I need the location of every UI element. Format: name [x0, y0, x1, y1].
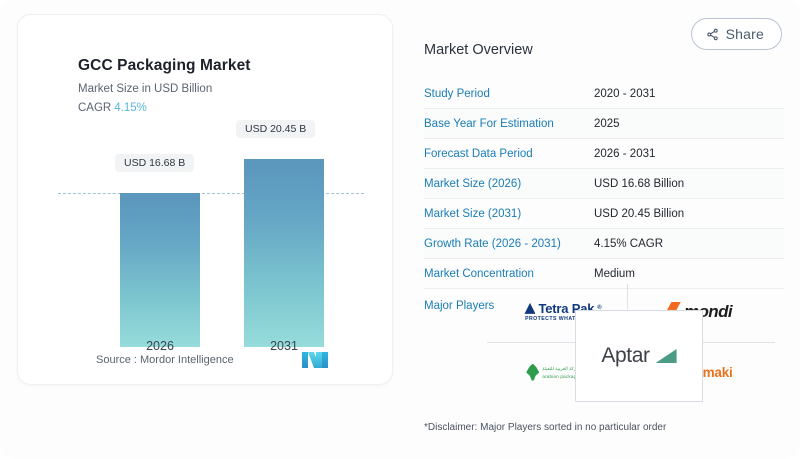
disclaimer-text: *Disclaimer: Major Players sorted in no … [424, 422, 666, 433]
aptar-name: Aptar [601, 344, 649, 368]
table-row: Market Size (2026) USD 16.68 Billion [424, 169, 784, 199]
bar-series: USD 16.68 B USD 20.45 B 2026 2031 [58, 125, 364, 347]
huhtamaki-name-part2: maki [703, 365, 733, 380]
row-key: Growth Rate (2026 - 2031) [424, 238, 594, 250]
mordor-intelligence-logo [302, 352, 328, 368]
table-row: Study Period 2020 - 2031 [424, 79, 784, 109]
bar-value-label-2031: USD 20.45 B [236, 120, 315, 138]
cagr-value: 4.15% [114, 102, 147, 114]
share-icon [706, 28, 719, 41]
x-axis-tick-2026: 2026 [105, 339, 215, 353]
share-button-label: Share [726, 26, 764, 42]
chart-title: GCC Packaging Market [78, 57, 251, 75]
bar-2031[interactable] [244, 159, 324, 347]
aptar-mark-icon [656, 349, 677, 363]
tetra-pak-mark-icon [524, 303, 535, 314]
row-value: 2026 - 2031 [594, 148, 655, 160]
row-key: Study Period [424, 88, 594, 100]
row-value: 4.15% CAGR [594, 238, 663, 250]
row-key: Market Size (2031) [424, 208, 594, 220]
row-value: USD 16.68 Billion [594, 178, 684, 190]
arabian-packaging-mark-icon [526, 364, 539, 381]
chart-source-text: Source : Mordor Intelligence [96, 354, 234, 366]
market-overview-panel: Market Overview Study Period 2020 - 2031… [424, 42, 784, 323]
row-key: Base Year For Estimation [424, 118, 594, 130]
row-value: USD 20.45 Billion [594, 208, 684, 220]
bar-2026[interactable] [120, 193, 200, 347]
bar-value-label-2026: USD 16.68 B [115, 154, 194, 172]
row-key: Forecast Data Period [424, 148, 594, 160]
share-button[interactable]: Share [691, 18, 782, 50]
table-row: Market Size (2031) USD 20.45 Billion [424, 199, 784, 229]
logo-aptar[interactable]: Aptar [575, 310, 703, 402]
major-players-logo-grid: Tetra Pak ® PROTECTS WHAT'S GOOD mondi ا… [487, 282, 787, 402]
row-value: 2025 [594, 118, 620, 130]
chart-subtitle: Market Size in USD Billion [78, 83, 212, 95]
table-row: Base Year For Estimation 2025 [424, 109, 784, 139]
chart-card: GCC Packaging Market Market Size in USD … [17, 14, 393, 385]
market-report-page: Share GCC Packaging Market Market Size i… [0, 0, 800, 459]
table-row: Forecast Data Period 2026 - 2031 [424, 139, 784, 169]
chart-cagr: CAGR4.15% [78, 102, 147, 114]
chart-source-row: Source : Mordor Intelligence [96, 352, 328, 368]
table-row: Growth Rate (2026 - 2031) 4.15% CAGR [424, 229, 784, 259]
row-value: Medium [594, 268, 635, 280]
row-value: 2020 - 2031 [594, 88, 655, 100]
cagr-label: CAGR [78, 102, 111, 114]
x-axis-tick-2031: 2031 [229, 339, 339, 353]
row-key: Market Concentration [424, 268, 594, 280]
row-key: Market Size (2026) [424, 178, 594, 190]
bar-chart-plot-area: USD 16.68 B USD 20.45 B 2026 2031 [58, 125, 364, 347]
